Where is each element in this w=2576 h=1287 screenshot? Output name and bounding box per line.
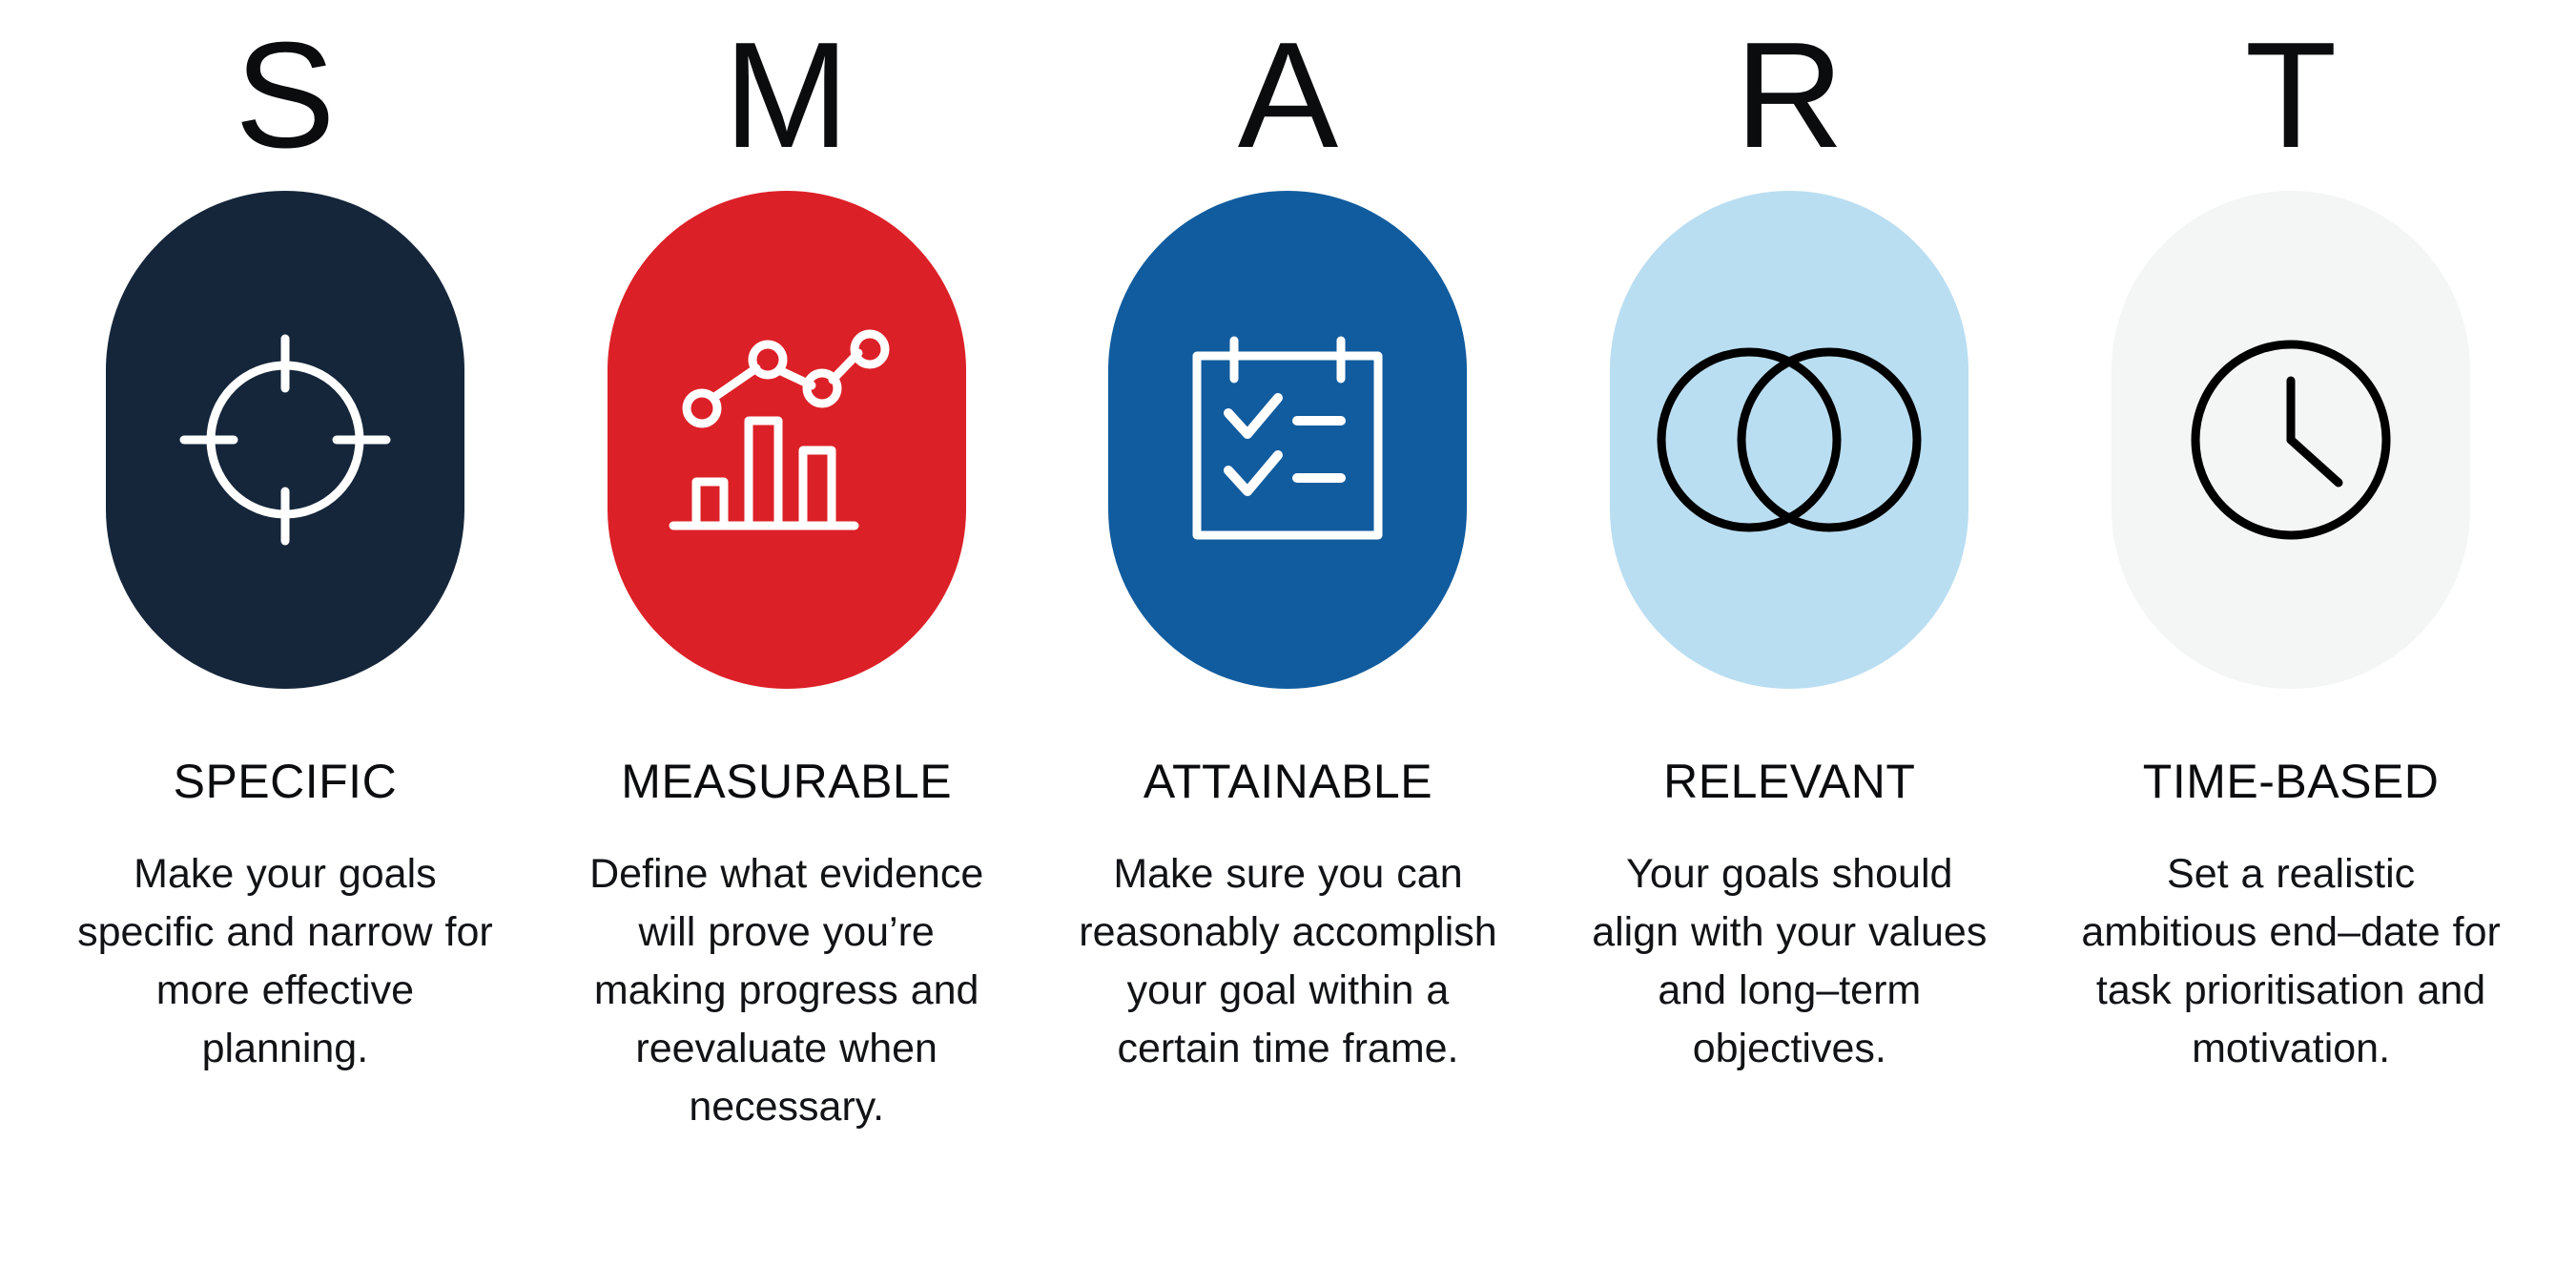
smart-letter-a: A bbox=[1238, 0, 1338, 191]
smart-body-attainable: Make sure you can reasonably accomplish … bbox=[1078, 845, 1497, 1078]
smart-column-specific: S SPECIFIC Make your goals specific and … bbox=[34, 0, 536, 1078]
icon-pill-measurable bbox=[608, 191, 966, 689]
smart-letter-t: T bbox=[2245, 0, 2338, 191]
smart-body-specific: Make your goals specific and narrow for … bbox=[75, 845, 495, 1078]
smart-letter-r: R bbox=[1735, 0, 1844, 191]
smart-letter-s: S bbox=[235, 0, 335, 191]
clock-icon bbox=[2186, 335, 2396, 545]
smart-heading-attainable: ATTAINABLE bbox=[1144, 758, 1432, 805]
smart-column-relevant: R RELEVANT Your goals should align with … bbox=[1538, 0, 2040, 1078]
calendar-checklist-icon bbox=[1173, 325, 1402, 554]
icon-pill-relevant bbox=[1610, 191, 1968, 689]
venn-diagram-icon bbox=[1651, 344, 1927, 535]
smart-heading-measurable: MEASURABLE bbox=[621, 758, 952, 805]
smart-column-measurable: M bbox=[536, 0, 1038, 1136]
smart-heading-time-based: TIME-BASED bbox=[2143, 758, 2440, 805]
smart-heading-relevant: RELEVANT bbox=[1663, 758, 1915, 805]
smart-body-measurable: Define what evidence will prove you’re m… bbox=[577, 845, 997, 1136]
smart-column-time-based: T TIME-BASED Set a realistic ambitious e… bbox=[2040, 0, 2542, 1078]
icon-pill-time-based bbox=[2112, 191, 2470, 689]
smart-heading-specific: SPECIFIC bbox=[174, 758, 398, 805]
bar-chart-line-graph-icon bbox=[668, 328, 906, 552]
target-crosshair-icon bbox=[171, 325, 400, 554]
smart-letter-m: M bbox=[724, 0, 850, 191]
smart-body-time-based: Set a realistic ambitious end–date for t… bbox=[2081, 845, 2501, 1078]
smart-body-relevant: Your goals should align with your values… bbox=[1579, 845, 1999, 1078]
icon-pill-specific bbox=[106, 191, 464, 689]
icon-pill-attainable bbox=[1108, 191, 1467, 689]
smart-column-attainable: A ATTAINABL bbox=[1038, 0, 1539, 1078]
smart-goals-infographic: S SPECIFIC Make your goals specific and … bbox=[0, 0, 2576, 1287]
